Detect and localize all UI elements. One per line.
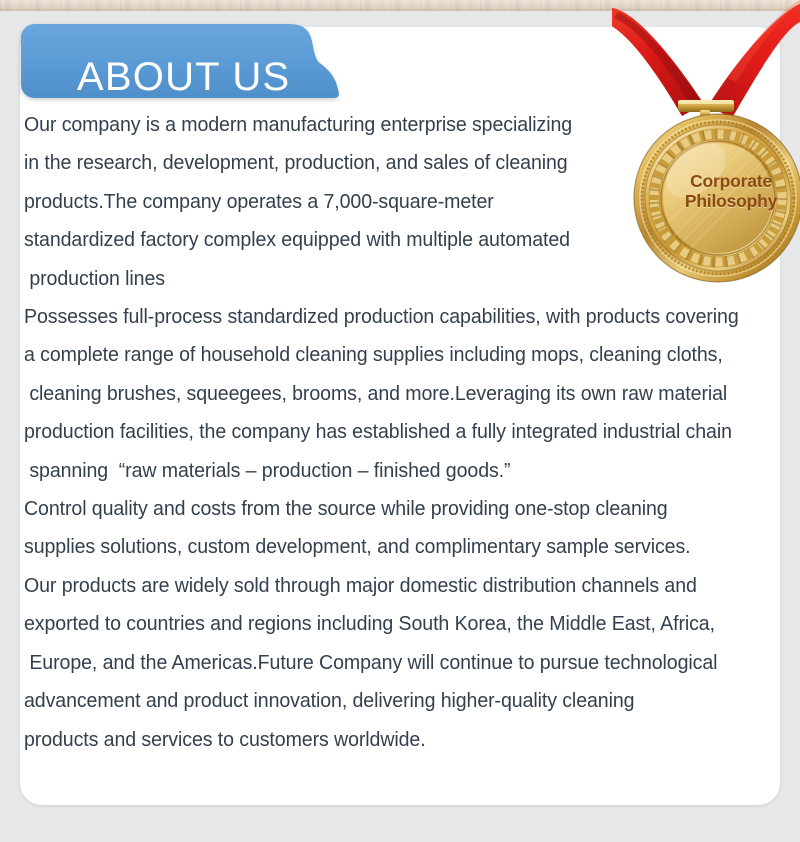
body-line: supplies solutions, custom development, … bbox=[24, 528, 746, 566]
page-title: ABOUT US bbox=[77, 57, 290, 97]
body-line: products.The company operates a 7,000-sq… bbox=[24, 183, 746, 221]
body-line: exported to countries and regions includ… bbox=[24, 605, 746, 643]
body-line: standardized factory complex equipped wi… bbox=[24, 221, 746, 259]
body-line: Possesses full-process standardized prod… bbox=[24, 298, 746, 336]
body-line: production facilities, the company has e… bbox=[24, 413, 746, 451]
body-line: advancement and product innovation, deli… bbox=[24, 682, 746, 720]
body-line: a complete range of household cleaning s… bbox=[24, 336, 746, 374]
body-line: Our products are widely sold through maj… bbox=[24, 567, 746, 605]
body-line: production lines bbox=[24, 260, 746, 298]
about-us-banner: ABOUT US bbox=[0, 0, 800, 842]
body-line: in the research, development, production… bbox=[24, 144, 746, 182]
about-us-body: Our company is a modern manufacturing en… bbox=[24, 106, 780, 759]
body-line: Control quality and costs from the sourc… bbox=[24, 490, 746, 528]
body-line: Our company is a modern manufacturing en… bbox=[24, 106, 746, 144]
body-line: cleaning brushes, squeegees, brooms, and… bbox=[24, 375, 746, 413]
body-line: Europe, and the Americas.Future Company … bbox=[24, 644, 746, 682]
body-line: spanning “raw materials – production – f… bbox=[24, 452, 746, 490]
section-heading-tab: ABOUT US bbox=[21, 24, 341, 98]
body-line: products and services to customers world… bbox=[24, 721, 746, 759]
